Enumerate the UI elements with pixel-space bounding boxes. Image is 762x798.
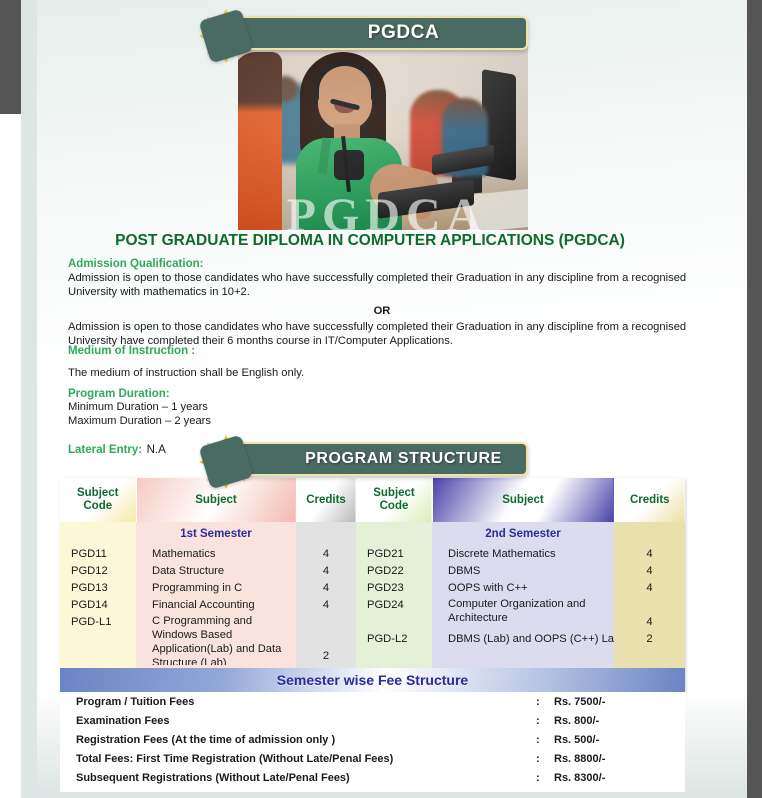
cell-code: PGD-L2: [367, 631, 432, 648]
fee-colon: :: [536, 753, 554, 765]
left-edge-white: [0, 114, 21, 798]
cell-subject: DBMS (Lab) and OOPS (C++) Lab: [448, 631, 614, 648]
header-subject-code-1: Subject Code: [60, 478, 136, 522]
cell-code: PGD-L1: [71, 614, 136, 631]
cell-credits: 2: [614, 631, 685, 648]
fee-structure-title: Semester wise Fee Structure: [277, 672, 468, 688]
fee-colon: :: [536, 696, 554, 708]
maximum-duration-text: Maximum Duration – 2 years: [68, 415, 696, 429]
table-header-row: Subject Code Subject Credits Subject Cod…: [60, 478, 685, 522]
header-credits-2: Credits: [614, 478, 685, 522]
fee-value: Rs. 500/-: [554, 734, 685, 746]
fee-value: Rs. 8800/-: [554, 753, 685, 765]
cell-subject: Discrete Mathematics: [448, 546, 614, 563]
medium-of-instruction-heading: Medium of Instruction :: [68, 345, 696, 357]
cell-subject: Mathematics: [152, 546, 296, 563]
cell-credits: 4: [614, 563, 685, 580]
right-edge-strip: [747, 0, 762, 798]
page-title: POST GRADUATE DIPLOMA IN COMPUTER APPLIC…: [60, 232, 680, 250]
program-duration-section: Program Duration: Minimum Duration – 1 y…: [68, 388, 696, 428]
document-page: PGDCA PGDCA POST GRADUATE DIPLOMA IN COM…: [0, 0, 762, 798]
cell-code: PGD22: [367, 563, 432, 580]
cell-code: PGD14: [71, 597, 136, 614]
cell-code: PGD11: [71, 546, 136, 563]
cell-subject: Financial Accounting: [152, 597, 296, 614]
semester1-code-column: . PGD11 PGD12 PGD13 PGD14 PGD-L1: [60, 522, 136, 692]
admission-qualification-paragraph-1: Admission is open to those candidates wh…: [68, 272, 696, 299]
semester1-title: 1st Semester: [136, 522, 296, 544]
admission-qualification-heading: Admission Qualification:: [68, 258, 696, 270]
cell-subject: OOPS with C++: [448, 580, 614, 597]
cell-subject: Data Structure: [152, 563, 296, 580]
left-edge-strip: [0, 0, 21, 114]
lateral-entry-value: N.A: [147, 444, 166, 456]
cell-credits: 4: [614, 614, 685, 631]
semester2-code-column: . PGD21 PGD22 PGD23 PGD24 PGD-L2: [356, 522, 432, 692]
fee-value: Rs. 7500/-: [554, 696, 685, 708]
cell-subject: DBMS: [448, 563, 614, 580]
cell-code: PGD12: [71, 563, 136, 580]
medium-of-instruction-section: Medium of Instruction : The medium of in…: [68, 345, 696, 381]
cell-subject: Computer Organization and Architecture: [448, 597, 614, 631]
cell-credits: 4: [296, 580, 356, 597]
fee-colon: :: [536, 734, 554, 746]
fee-row: Total Fees: First Time Registration (Wit…: [60, 749, 685, 768]
fee-structure-list: Program / Tuition Fees : Rs. 7500/- Exam…: [60, 692, 685, 792]
fee-value: Rs. 800/-: [554, 715, 685, 727]
fee-label: Examination Fees: [60, 715, 536, 727]
fee-colon: :: [536, 715, 554, 727]
fee-value: Rs. 8300/-: [554, 772, 685, 784]
lateral-entry-heading: Lateral Entry:: [68, 444, 142, 456]
admission-qualification-section: Admission Qualification: Admission is op…: [68, 258, 696, 348]
minimum-duration-text: Minimum Duration – 1 years: [68, 401, 696, 415]
semester1-subject-column: 1st Semester Mathematics Data Structure …: [136, 522, 296, 692]
fee-row: Subsequent Registrations (Without Late/P…: [60, 768, 685, 787]
program-duration-heading: Program Duration:: [68, 388, 696, 400]
program-structure-table: Subject Code Subject Credits Subject Cod…: [60, 478, 685, 692]
cell-credits: 4: [296, 546, 356, 563]
cell-credits: 4: [614, 546, 685, 563]
header-credits-1: Credits: [296, 478, 356, 522]
table-body-row: . PGD11 PGD12 PGD13 PGD14 PGD-L1 1st Sem…: [60, 522, 685, 692]
semester2-title: 2nd Semester: [432, 522, 614, 544]
admission-or-divider: OR: [68, 305, 696, 317]
fee-row: Program / Tuition Fees : Rs. 7500/-: [60, 692, 685, 711]
cell-credits: 2: [296, 648, 356, 665]
cell-code: PGD21: [367, 546, 432, 563]
semester2-subject-column: 2nd Semester Discrete Mathematics DBMS O…: [432, 522, 614, 692]
cell-code: PGD24: [367, 597, 432, 614]
banner-label: PGDCA: [328, 22, 440, 44]
semester1-credits-column: . 4 4 4 4 2 18: [296, 522, 356, 692]
cell-credits: 4: [614, 580, 685, 597]
cell-credits: 4: [296, 563, 356, 580]
fee-row: Examination Fees : Rs. 800/-: [60, 711, 685, 730]
cell-code: PGD13: [71, 580, 136, 597]
banner-bar: PROGRAM STRUCTURE: [239, 442, 528, 476]
medium-of-instruction-text: The medium of instruction shall be Engli…: [68, 367, 696, 381]
course-photo: [238, 46, 528, 230]
header-subject-2: Subject: [432, 478, 614, 522]
header-subject-code-2: Subject Code: [356, 478, 432, 522]
fee-row: Registration Fees (At the time of admiss…: [60, 730, 685, 749]
fee-label: Total Fees: First Time Registration (Wit…: [60, 753, 536, 765]
fee-structure-title-bar: Semester wise Fee Structure: [60, 668, 685, 692]
cell-subject: Programming in C: [152, 580, 296, 597]
fee-colon: :: [536, 772, 554, 784]
cell-credits: 4: [296, 597, 356, 614]
cell-subject: C Programming and Windows Based Applicat…: [152, 614, 296, 665]
program-structure-banner-label: PROGRAM STRUCTURE: [265, 450, 502, 468]
fee-label: Registration Fees (At the time of admiss…: [60, 734, 536, 746]
cell-code: PGD23: [367, 580, 432, 597]
semester2-credits-column: . 4 4 4 4 2 18: [614, 522, 685, 692]
banner-bar: PGDCA: [239, 16, 528, 50]
fee-label: Subsequent Registrations (Without Late/P…: [60, 772, 536, 784]
fee-label: Program / Tuition Fees: [60, 696, 536, 708]
